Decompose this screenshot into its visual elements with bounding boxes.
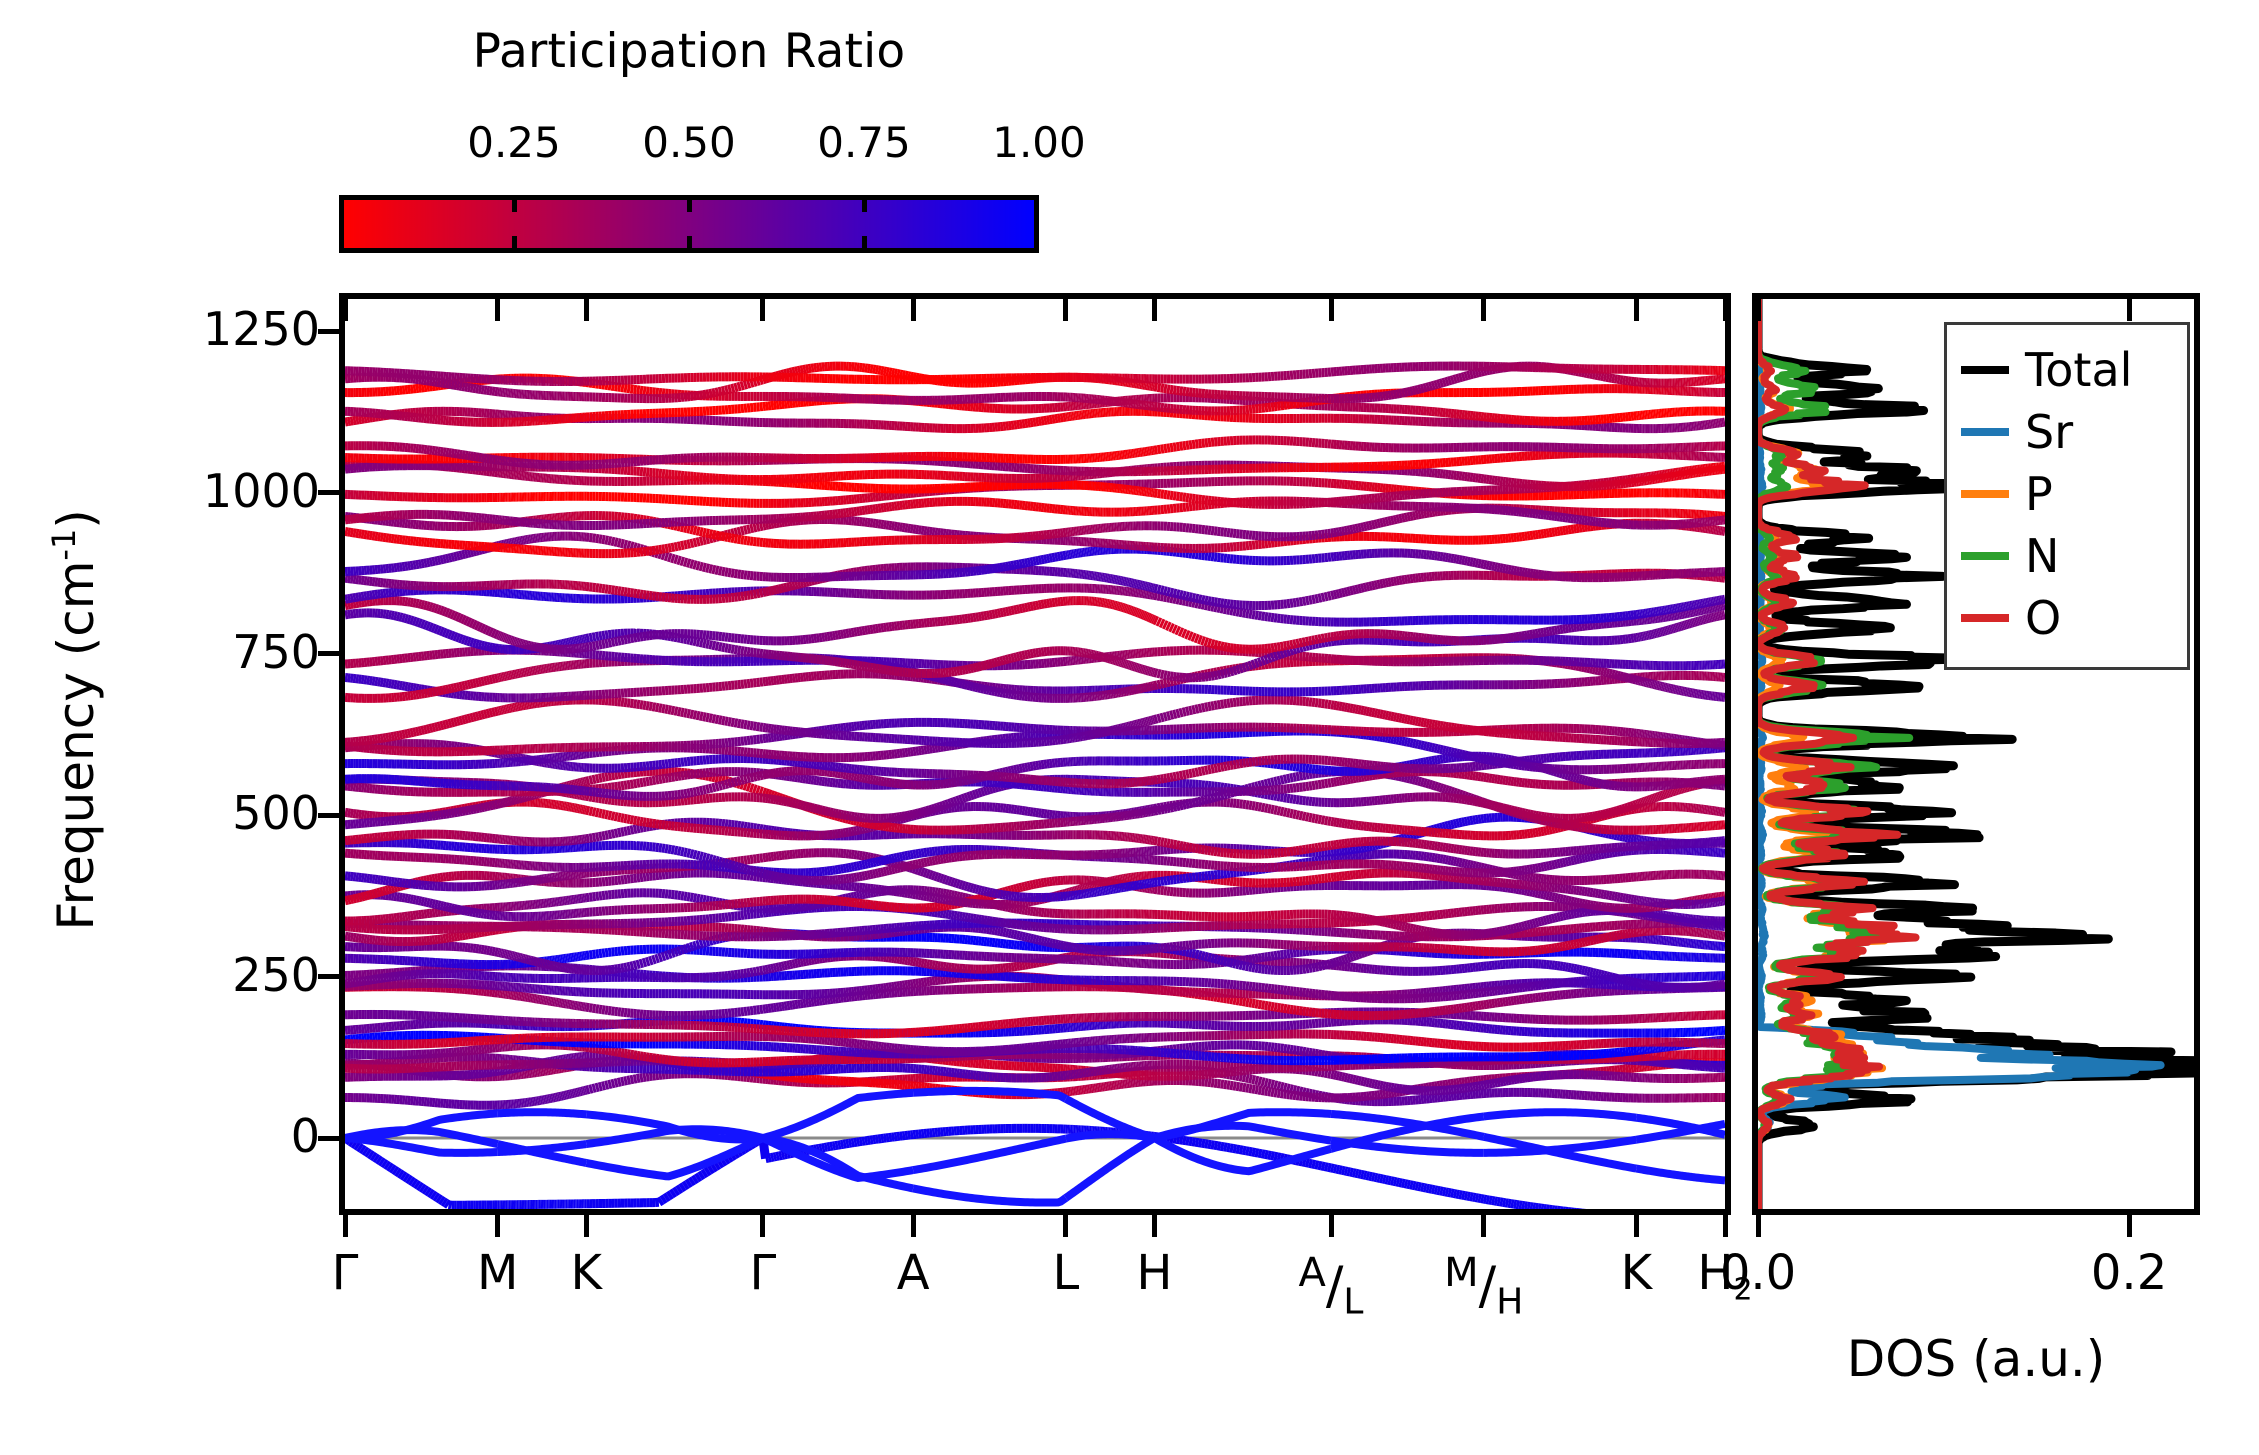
legend-label-sr: Sr bbox=[2025, 409, 2073, 455]
legend-label-n: N bbox=[2025, 533, 2059, 579]
dos-legend: TotalSrPNO bbox=[1944, 322, 2190, 670]
legend-swatch-sr bbox=[1961, 428, 2009, 436]
legend-item-total: Total bbox=[1947, 339, 2187, 401]
legend-item-o: O bbox=[1947, 587, 2187, 649]
legend-item-sr: Sr bbox=[1947, 401, 2187, 463]
dos-x-axis-tick-labels: 0.00.2 bbox=[0, 0, 2259, 1455]
dos-x-tick-label-0: 0.0 bbox=[1658, 1245, 1858, 1301]
legend-label-total: Total bbox=[2025, 347, 2132, 393]
legend-swatch-n bbox=[1961, 552, 2009, 560]
legend-item-n: N bbox=[1947, 525, 2187, 587]
legend-swatch-o bbox=[1961, 614, 2009, 622]
legend-item-p: P bbox=[1947, 463, 2187, 525]
legend-label-o: O bbox=[2025, 595, 2061, 641]
dos-x-tick-label-1: 0.2 bbox=[2029, 1245, 2229, 1301]
legend-label-p: P bbox=[2025, 471, 2053, 517]
legend-swatch-total bbox=[1961, 366, 2009, 374]
dos-axis-title: DOS (a.u.) bbox=[1752, 1330, 2200, 1388]
legend-swatch-p bbox=[1961, 490, 2009, 498]
